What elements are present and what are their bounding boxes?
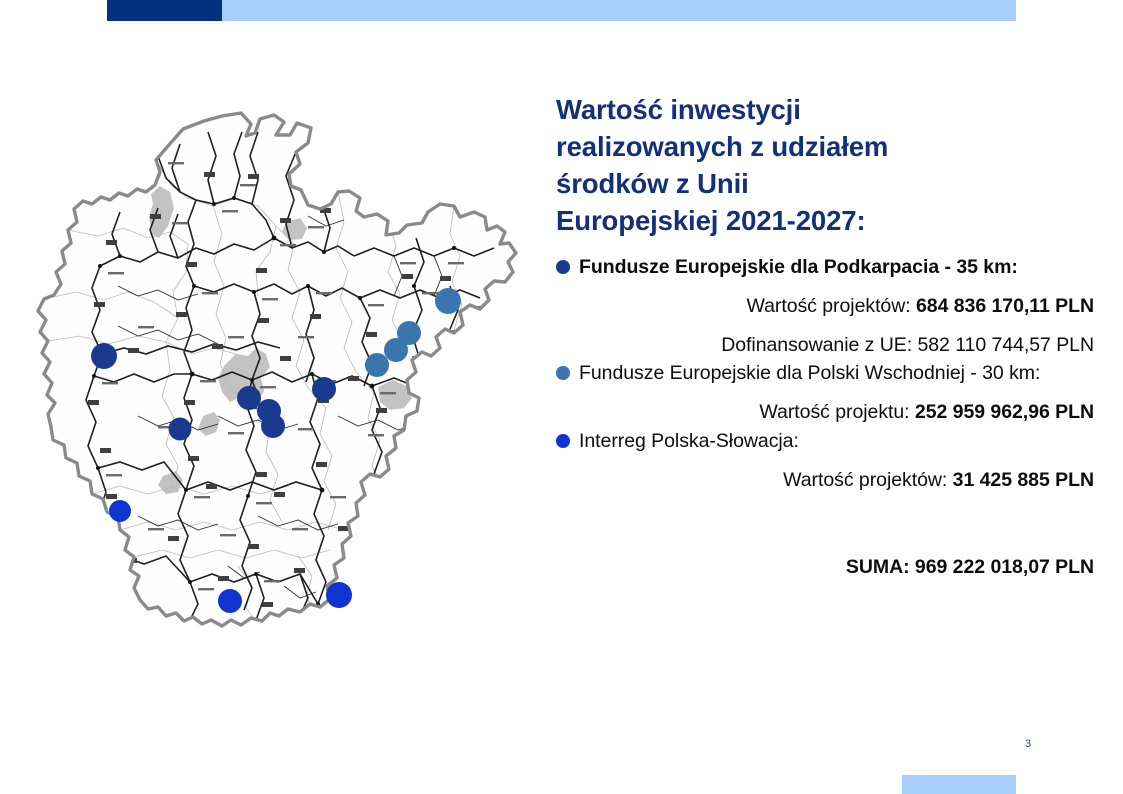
detail-label: Wartość projektów: [746,295,916,317]
program-group: Fundusze Europejskie dla Polski Wschodni… [556,360,1096,426]
program-list: Fundusze Europejskie dla Podkarpacia - 3… [556,254,1096,494]
map-investment-marker [237,386,261,410]
summary-total: SUMA: 969 222 018,07 PLN [556,556,1096,579]
program-detail-line: Wartość projektu: 252 959 962,96 PLN [556,400,1096,426]
program-label: Fundusze Europejskie dla Polski Wschodni… [579,360,1040,387]
detail-label: Dofinansowanie z UE: [721,334,917,356]
map-investment-marker [218,589,242,613]
podkarpackie-voivodeship-map [8,86,538,706]
detail-amount: 684 836 170,11 PLN [916,295,1094,317]
content-panel: Wartość inwestycji realizowanych z udzia… [556,92,1096,579]
bullet-dot-icon [556,366,570,380]
map-investment-marker [365,353,389,377]
program-detail-line: Dofinansowanie z UE: 582 110 744,57 PLN [556,333,1096,359]
detail-amount: 252 959 962,96 PLN [915,401,1094,423]
page-number: 3 [1025,738,1031,750]
detail-label: Wartość projektu: [759,401,915,423]
program-label: Interreg Polska-Słowacja: [579,428,799,455]
bullet-dot-icon [556,260,570,274]
bottom-decorative-bar [902,775,1016,794]
map-investment-marker [261,414,285,438]
program-bullet-row: Fundusze Europejskie dla Podkarpacia - 3… [556,254,1096,281]
top-bar-dark-segment [107,0,222,21]
program-group: Interreg Polska-Słowacja:Wartość projekt… [556,428,1096,494]
detail-label: Wartość projektów: [783,469,953,491]
detail-amount: 31 425 885 PLN [953,469,1094,491]
detail-amount: 582 110 744,57 PLN [917,334,1094,356]
program-group: Fundusze Europejskie dla Podkarpacia - 3… [556,254,1096,358]
program-label: Fundusze Europejskie dla Podkarpacia - 3… [579,254,1018,281]
map-investment-marker [109,500,131,522]
map-svg [8,86,538,706]
map-investment-marker [312,377,336,401]
program-detail-line: Wartość projektów: 31 425 885 PLN [556,468,1096,494]
program-bullet-row: Fundusze Europejskie dla Polski Wschodni… [556,360,1096,387]
map-investment-marker [397,321,421,345]
map-investment-marker [326,582,352,608]
program-bullet-row: Interreg Polska-Słowacja: [556,428,1096,455]
map-region-fill [38,113,516,626]
top-decorative-bar [107,0,1016,21]
bullet-dot-icon [556,434,570,448]
program-detail-line: Wartość projektów: 684 836 170,11 PLN [556,294,1096,320]
map-investment-marker [91,343,117,369]
map-investment-marker [169,418,192,441]
page-title: Wartość inwestycji realizowanych z udzia… [556,92,1096,240]
map-investment-marker [435,288,461,314]
top-bar-light-segment [222,0,1016,21]
